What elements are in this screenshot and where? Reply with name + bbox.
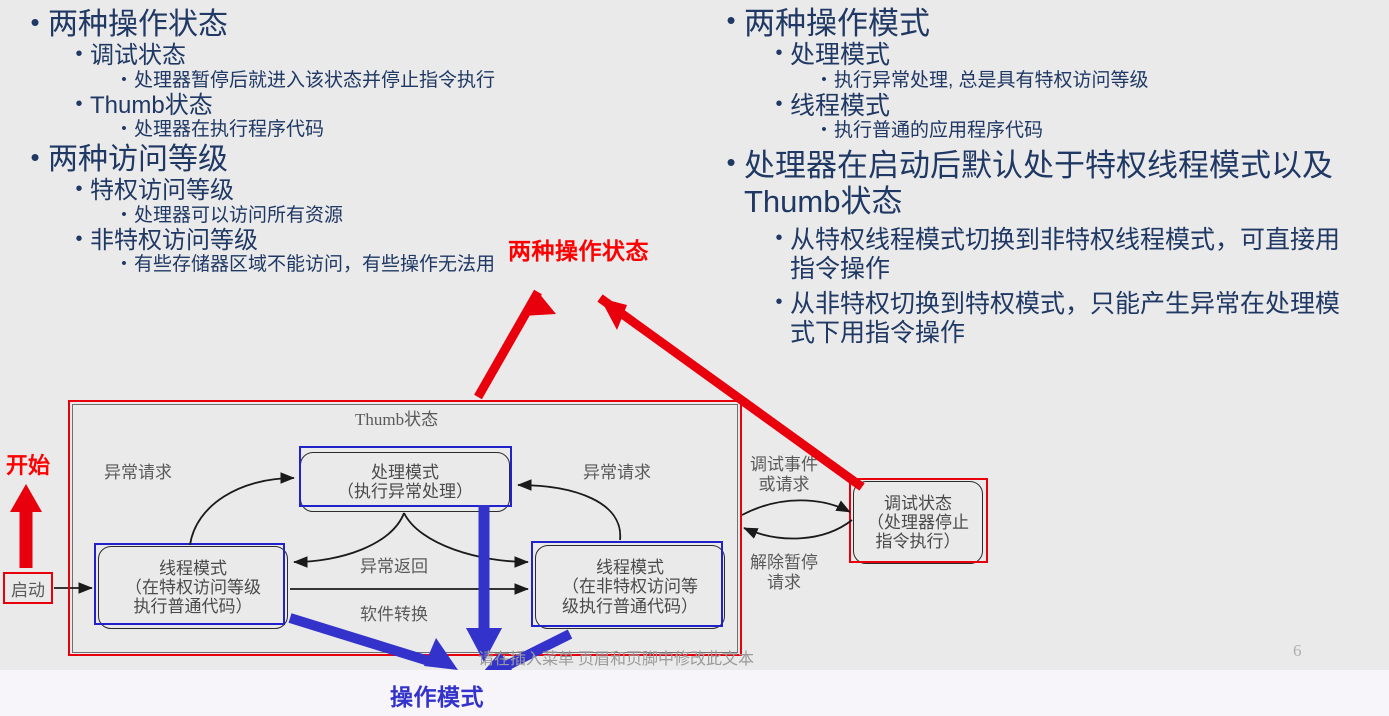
slide-footer: 请在插入菜单 页眉和页脚中修改此文本 bbox=[478, 645, 754, 669]
annotation-label-start: 开始 bbox=[6, 448, 50, 480]
slide-page-number: 6 bbox=[1293, 641, 1302, 661]
diagram-connectors bbox=[0, 0, 1389, 670]
slide-canvas: • 两种操作状态 • 调试状态 • 处理器暂停后就进入该状态并停止指令执行 • … bbox=[0, 0, 1389, 670]
annotation-label-operation-modes: 操作模式 bbox=[390, 678, 484, 712]
annotation-label-operation-states: 两种操作状态 bbox=[508, 232, 649, 266]
